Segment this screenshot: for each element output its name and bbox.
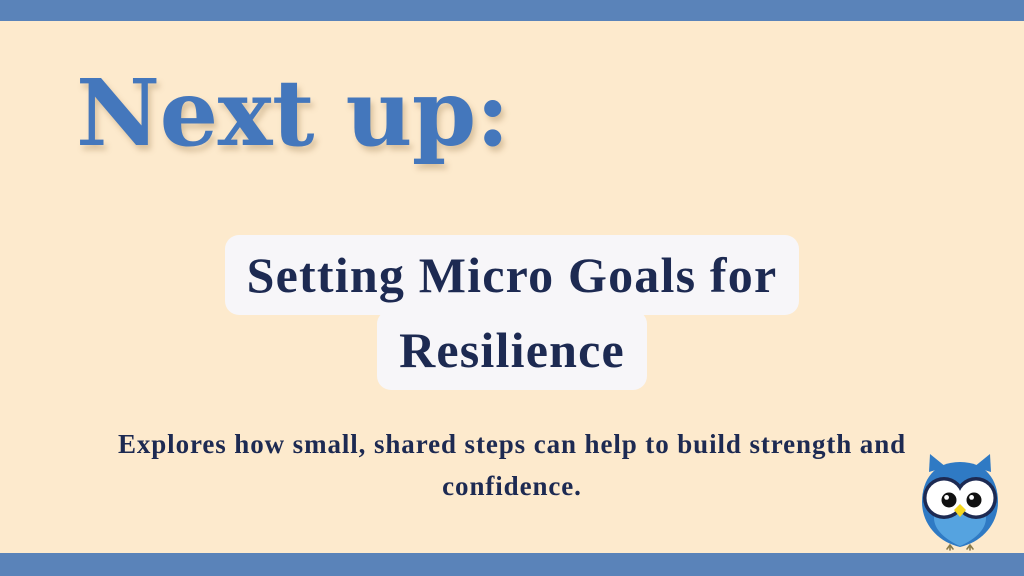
top-accent-bar <box>0 0 1024 21</box>
page-title-line-2: Resilience <box>377 310 647 390</box>
bottom-accent-bar <box>0 553 1024 576</box>
page-title: Setting Micro Goals for Resilience <box>0 238 1024 388</box>
subtitle-description: Explores how small, shared steps can hel… <box>97 424 927 508</box>
owl-mascot-icon <box>914 450 1006 554</box>
page-title-line-1: Setting Micro Goals for <box>225 235 800 315</box>
slide-canvas: Next up: Setting Micro Goals for Resilie… <box>0 0 1024 576</box>
eyebrow-next-up: Next up: <box>76 62 509 165</box>
